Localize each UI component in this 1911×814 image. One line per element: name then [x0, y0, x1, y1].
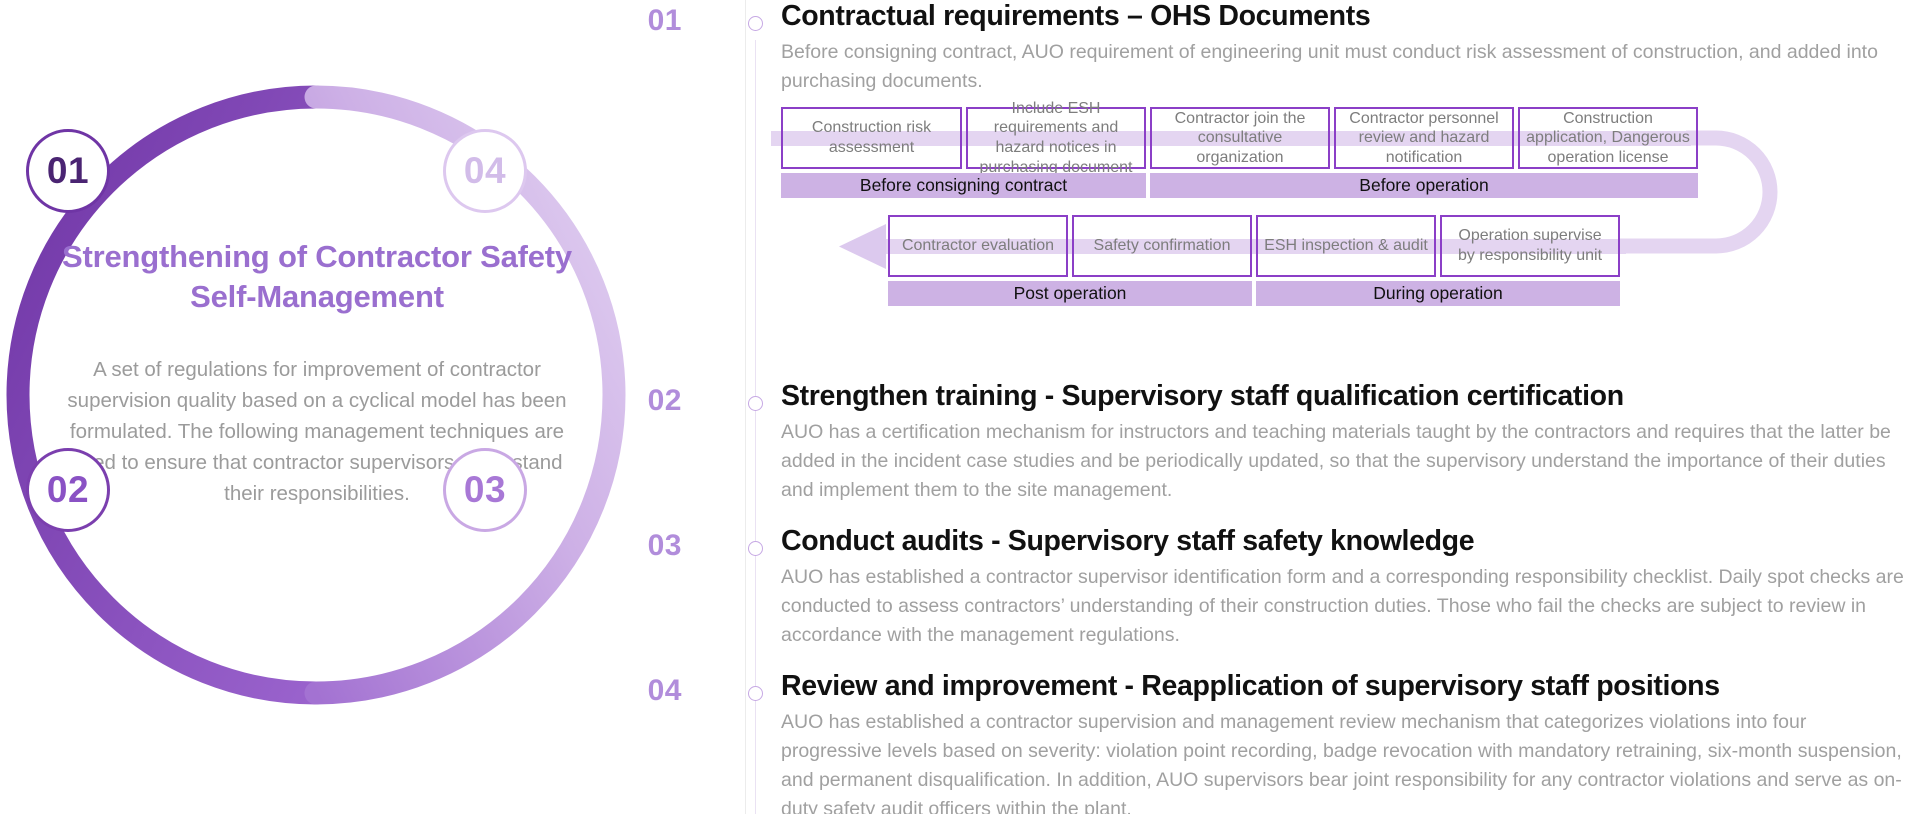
- flow-bar-post-operation: Post operation: [888, 281, 1252, 306]
- cycle-node-02-label: 02: [47, 469, 89, 511]
- infographic-page: 01 02 03 04 Strengthening of Contractor …: [0, 0, 1911, 814]
- flow-box-include-esh-requirements: Include ESH requirements and hazard noti…: [966, 107, 1146, 169]
- cycle-node-02[interactable]: 02: [26, 448, 110, 532]
- flow-bar-before-operation: Before operation: [1150, 173, 1698, 198]
- flow-box-construction-risk-assessment: Construction risk assessment: [781, 107, 962, 169]
- section-01-title: Contractual requirements – OHS Documents: [781, 0, 1370, 33]
- flow-box-safety-confirmation: Safety confirmation: [1072, 215, 1252, 277]
- section-03-number: 03: [620, 529, 682, 563]
- section-03-title: Conduct audits - Supervisory staff safet…: [781, 525, 1474, 558]
- section-02-body: AUO has a certification mechanism for in…: [781, 418, 1911, 505]
- ohs-process-flowchart: Construction risk assessment Include ESH…: [781, 98, 1911, 298]
- section-04-title: Review and improvement - Reapplication o…: [781, 670, 1720, 703]
- section-04-marker-icon: [748, 686, 763, 701]
- cycle-node-01[interactable]: 01: [26, 129, 110, 213]
- flow-bar-before-consigning-contract: Before consigning contract: [781, 173, 1146, 198]
- flow-bar-during-operation: During operation: [1256, 281, 1620, 306]
- cycle-ring: 01 02 03 04 Strengthening of Contractor …: [6, 85, 626, 705]
- cycle-title: Strengthening of Contractor Safety Self-…: [58, 237, 576, 318]
- sections-panel: 01 Contractual requirements – OHS Docume…: [745, 0, 1911, 814]
- flow-box-esh-inspection-audit: ESH inspection & audit: [1256, 215, 1436, 277]
- section-03-body: AUO has established a contractor supervi…: [781, 563, 1911, 650]
- section-01-body: Before consigning contract, AUO requirem…: [781, 38, 1911, 96]
- flow-box-contractor-personnel-review: Contractor personnel review and hazard n…: [1334, 107, 1514, 169]
- section-04-body: AUO has established a contractor supervi…: [781, 708, 1911, 814]
- flow-box-contractor-evaluation: Contractor evaluation: [888, 215, 1068, 277]
- section-01-marker-icon: [748, 16, 763, 31]
- cycle-node-03-label: 03: [464, 469, 506, 511]
- cycle-node-01-label: 01: [47, 150, 89, 192]
- cycle-node-03[interactable]: 03: [443, 448, 527, 532]
- flow-box-contractor-join-consultative: Contractor join the consultative organiz…: [1150, 107, 1330, 169]
- section-02-title: Strengthen training - Supervisory staff …: [781, 380, 1624, 413]
- section-04-number: 04: [620, 674, 682, 708]
- section-02-number: 02: [620, 384, 682, 418]
- cycle-node-04[interactable]: 04: [443, 129, 527, 213]
- flow-box-operation-supervise: Operation supervise by responsibility un…: [1440, 215, 1620, 277]
- section-02-marker-icon: [748, 396, 763, 411]
- section-01-number: 01: [620, 4, 682, 38]
- flow-arrow-head-icon: [839, 224, 886, 269]
- flow-box-construction-application: Construction application, Dangerous oper…: [1518, 107, 1698, 169]
- section-03-marker-icon: [748, 541, 763, 556]
- cycle-node-04-label: 04: [464, 150, 506, 192]
